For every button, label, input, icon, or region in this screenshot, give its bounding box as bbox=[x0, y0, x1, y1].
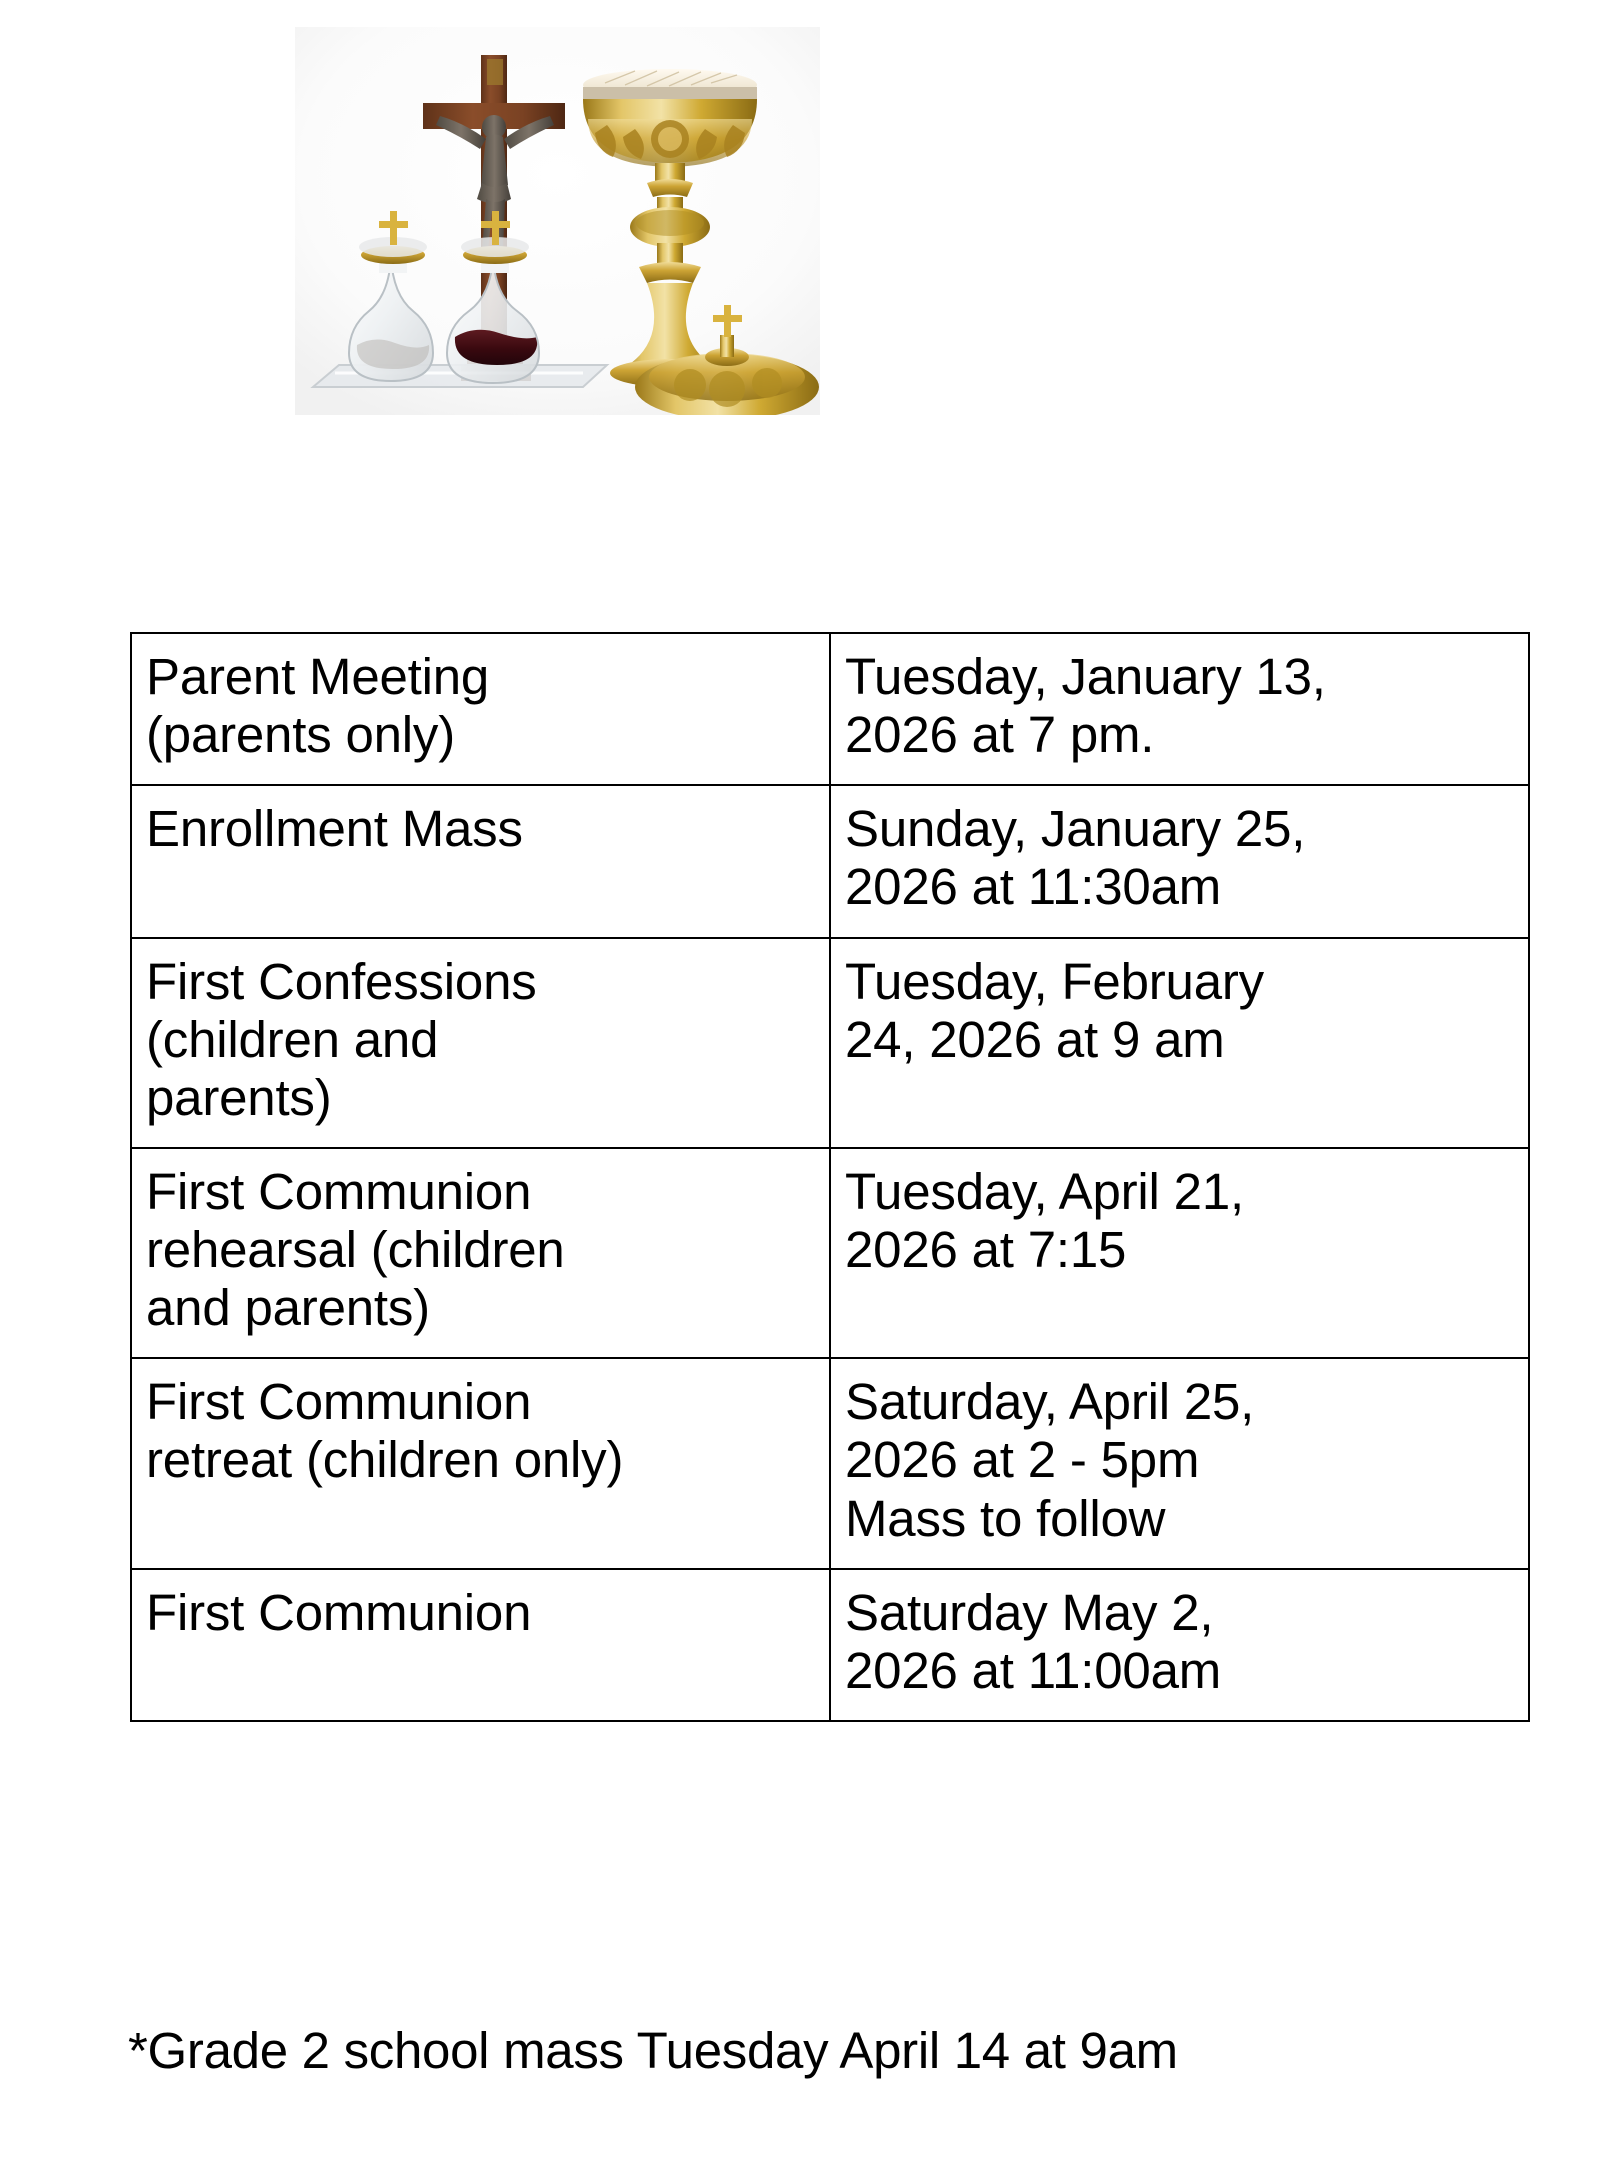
event-cell: First Communion bbox=[131, 1569, 830, 1721]
date-line: 24, 2026 at 9 am bbox=[845, 1011, 1520, 1069]
date-line: Tuesday, February bbox=[845, 953, 1520, 1011]
date-cell: Tuesday, February 24, 2026 at 9 am bbox=[830, 938, 1529, 1148]
date-line: Sunday, January 25, bbox=[845, 800, 1520, 858]
event-cell: First Communion retreat (children only) bbox=[131, 1358, 830, 1568]
schedule-footnote: *Grade 2 school mass Tuesday April 14 at… bbox=[128, 2022, 1178, 2079]
date-cell: Sunday, January 25, 2026 at 11:30am bbox=[830, 785, 1529, 937]
date-line: 2026 at 11:30am bbox=[845, 858, 1520, 916]
date-line: Saturday, April 25, bbox=[845, 1373, 1520, 1431]
event-line: and parents) bbox=[146, 1279, 821, 1337]
table-row: Parent Meeting (parents only) Tuesday, J… bbox=[131, 633, 1529, 785]
event-line: Enrollment Mass bbox=[146, 800, 821, 858]
date-line: 2026 at 7:15 bbox=[845, 1221, 1520, 1279]
event-line: parents) bbox=[146, 1069, 821, 1127]
event-line: (children and bbox=[146, 1011, 821, 1069]
schedule-table-body: Parent Meeting (parents only) Tuesday, J… bbox=[131, 633, 1529, 1721]
event-line: First Confessions bbox=[146, 953, 821, 1011]
event-line: First Communion bbox=[146, 1584, 821, 1642]
table-row: First Communion retreat (children only) … bbox=[131, 1358, 1529, 1568]
first-communion-schedule-table: Parent Meeting (parents only) Tuesday, J… bbox=[130, 632, 1530, 1722]
date-cell: Saturday, April 25, 2026 at 2 - 5pm Mass… bbox=[830, 1358, 1529, 1568]
table-row: First Communion rehearsal (children and … bbox=[131, 1148, 1529, 1358]
date-cell: Tuesday, April 21, 2026 at 7:15 bbox=[830, 1148, 1529, 1358]
event-line: retreat (children only) bbox=[146, 1431, 821, 1489]
date-line: 2026 at 2 - 5pm bbox=[845, 1431, 1520, 1489]
event-line: Parent Meeting bbox=[146, 648, 821, 706]
event-line: rehearsal (children bbox=[146, 1221, 821, 1279]
communion-photo-svg bbox=[295, 27, 820, 415]
event-cell: First Communion rehearsal (children and … bbox=[131, 1148, 830, 1358]
event-cell: Enrollment Mass bbox=[131, 785, 830, 937]
date-line: 2026 at 7 pm. bbox=[845, 706, 1520, 764]
table-row: First Confessions (children and parents)… bbox=[131, 938, 1529, 1148]
event-cell: Parent Meeting (parents only) bbox=[131, 633, 830, 785]
event-cell: First Confessions (children and parents) bbox=[131, 938, 830, 1148]
date-line: Saturday May 2, bbox=[845, 1584, 1520, 1642]
date-line: Mass to follow bbox=[845, 1490, 1520, 1548]
date-line: 2026 at 11:00am bbox=[845, 1642, 1520, 1700]
table-row: Enrollment Mass Sunday, January 25, 2026… bbox=[131, 785, 1529, 937]
date-line: Tuesday, January 13, bbox=[845, 648, 1520, 706]
date-cell: Saturday May 2, 2026 at 11:00am bbox=[830, 1569, 1529, 1721]
date-line: Tuesday, April 21, bbox=[845, 1163, 1520, 1221]
date-cell: Tuesday, January 13, 2026 at 7 pm. bbox=[830, 633, 1529, 785]
table-row: First Communion Saturday May 2, 2026 at … bbox=[131, 1569, 1529, 1721]
event-line: First Communion bbox=[146, 1373, 821, 1431]
communion-items-photo bbox=[295, 27, 820, 415]
event-line: First Communion bbox=[146, 1163, 821, 1221]
event-line: (parents only) bbox=[146, 706, 821, 764]
